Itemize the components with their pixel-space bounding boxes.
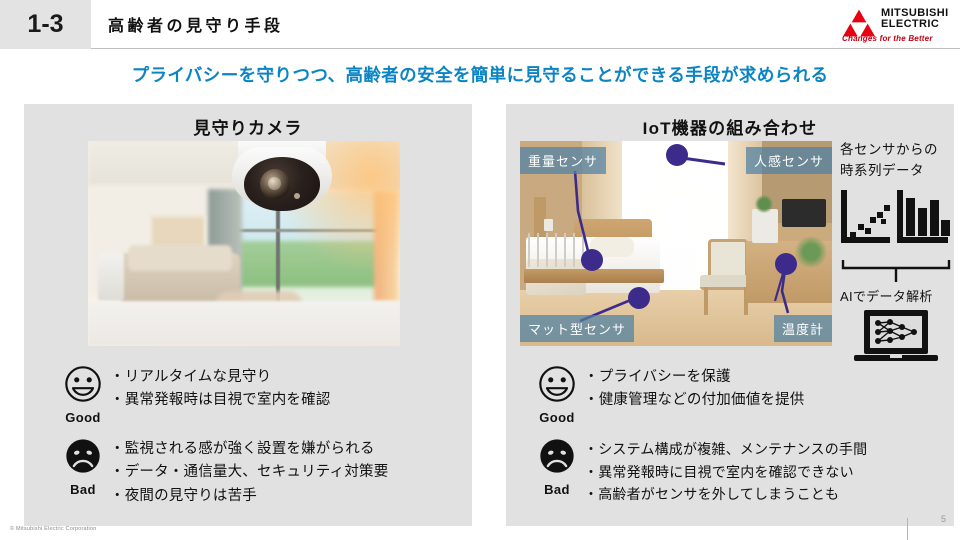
human-presence-sensor-marker	[666, 144, 688, 166]
three-diamonds-icon	[842, 9, 876, 37]
right-bad-block: Bad ・システム構成が複雑、メンテナンスの手間 ・異常発報時に目視で室内を確認…	[530, 434, 867, 506]
care-room-sensor-photo: 重量センサ 人感センサ マット型センサ 温度計	[520, 141, 832, 346]
section-number: 1-3	[27, 10, 63, 39]
list-item: ・異常発報時に目視で室内を確認できない	[584, 461, 867, 484]
analysis-column: 各センサからの 時系列データ	[840, 140, 952, 364]
panel-right-title: IoT機器の組み合わせ	[506, 114, 954, 139]
right-good-items: ・プライバシーを保護 ・健康管理などの付加価値を提供	[584, 362, 805, 413]
logo-wordmark: MITSUBISHI ELECTRIC	[881, 8, 949, 30]
page-number: 5	[941, 514, 946, 524]
right-good-block: Good ・プライバシーを保護 ・健康管理などの付加価値を提供	[530, 362, 805, 425]
bad-icon-wrap: Bad	[530, 434, 584, 497]
list-item: ・システム構成が複雑、メンテナンスの手間	[584, 438, 867, 461]
analysis-line-2: 時系列データ	[840, 161, 952, 182]
section-number-badge: 1-3	[0, 0, 91, 49]
good-label: Good	[530, 410, 584, 425]
list-item: ・異常発報時は目視で室内を確認	[110, 389, 331, 412]
bad-icon-wrap: Bad	[56, 434, 110, 497]
list-item: ・高齢者がセンサを外してしまうことも	[584, 483, 867, 506]
left-good-block: Good ・リアルタイムな見守り ・異常発報時は目視で室内を確認	[56, 362, 331, 425]
bar-chart-icon	[900, 190, 950, 240]
slide-header: 1-3 高齢者の見守り手段 MITSUBISHI ELECTRIC Change…	[0, 0, 960, 49]
scatter-chart-icon	[844, 190, 890, 240]
footer-divider	[907, 518, 908, 540]
good-icon-wrap: Good	[530, 362, 584, 425]
list-item: ・監視される感が強く設置を嫌がられる	[110, 438, 388, 461]
good-icon-wrap: Good	[56, 362, 110, 425]
smiley-face-icon	[63, 364, 103, 404]
list-item: ・夜間の見守りは苦手	[110, 485, 388, 508]
bad-label: Bad	[56, 482, 110, 497]
sensor-tag-mat: マット型センサ	[520, 315, 634, 342]
good-label: Good	[56, 410, 110, 425]
sensor-tag-thermometer: 温度計	[774, 315, 832, 342]
panel-left-title: 見守りカメラ	[24, 114, 472, 139]
living-room-camera-photo	[88, 141, 400, 346]
smiley-face-icon	[537, 364, 577, 404]
timeseries-chart-icons	[840, 186, 952, 258]
slide-subtitle: プライバシーを守りつつ、高齢者の安全を簡単に見守ることができる手段が求められる	[0, 62, 960, 87]
logo-line2: ELECTRIC	[881, 19, 949, 30]
ai-analysis-label: AIでデータ解析	[840, 286, 952, 305]
panel-monitoring-camera: 見守りカメラ	[24, 104, 472, 526]
list-item: ・健康管理などの付加価値を提供	[584, 389, 805, 412]
right-bad-items: ・システム構成が複雑、メンテナンスの手間 ・異常発報時に目視で室内を確認できない…	[584, 434, 867, 506]
frowny-face-icon	[537, 436, 577, 476]
brace-connector	[840, 258, 952, 284]
copyright-notice: © Mitsubishi Electric Corporation	[10, 526, 96, 532]
mitsubishi-electric-logo: MITSUBISHI ELECTRIC Changes for the Bett…	[834, 3, 952, 47]
page-title: 高齢者の見守り手段	[108, 12, 284, 36]
weight-sensor-marker	[581, 249, 603, 271]
logo-tagline: Changes for the Better	[842, 34, 933, 43]
laptop-neural-network-icon	[840, 308, 952, 364]
slide: 1-3 高齢者の見守り手段 MITSUBISHI ELECTRIC Change…	[0, 0, 960, 540]
list-item: ・リアルタイムな見守り	[110, 366, 331, 389]
mat-sensor-marker	[628, 287, 650, 309]
left-bad-block: Bad ・監視される感が強く設置を嫌がられる ・データ・通信量大、セキュリティ対…	[56, 434, 388, 508]
frowny-face-icon	[63, 436, 103, 476]
list-item: ・データ・通信量大、セキュリティ対策要	[110, 461, 388, 484]
sensor-tag-weight: 重量センサ	[520, 147, 606, 174]
left-bad-items: ・監視される感が強く設置を嫌がられる ・データ・通信量大、セキュリティ対策要 ・…	[110, 434, 388, 508]
bad-label: Bad	[530, 482, 584, 497]
thermometer-marker	[775, 253, 797, 275]
analysis-line-1: 各センサからの	[840, 140, 952, 161]
left-good-items: ・リアルタイムな見守り ・異常発報時は目視で室内を確認	[110, 362, 331, 413]
panel-iot-combination: IoT機器の組み合わせ	[506, 104, 954, 526]
header-divider	[91, 48, 960, 49]
sensor-tag-human-presence: 人感センサ	[746, 147, 832, 174]
list-item: ・プライバシーを保護	[584, 366, 805, 389]
